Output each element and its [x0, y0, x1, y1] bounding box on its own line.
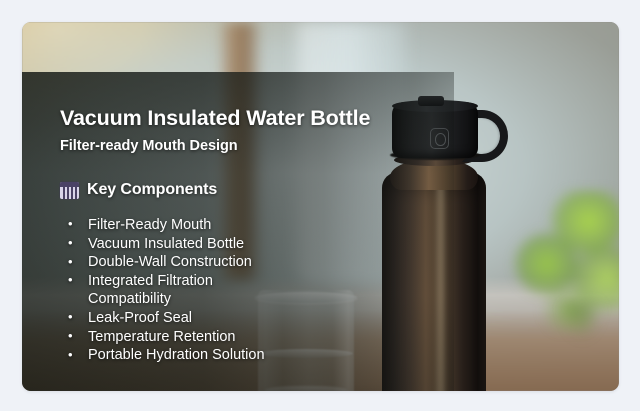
photo-plant-stem: [555, 304, 609, 384]
list-item: Temperature Retention: [60, 328, 296, 347]
page-title: Vacuum Insulated Water Bottle: [60, 106, 412, 131]
list-item: Leak-Proof Seal: [60, 309, 296, 328]
card-content: Vacuum Insulated Water Bottle Filter-rea…: [60, 106, 412, 365]
key-components-heading: Key Components: [60, 181, 412, 200]
list-item: Integrated Filtration Compatibility: [60, 272, 296, 309]
section-heading-label: Key Components: [87, 181, 217, 199]
list-item: Portable Hydration Solution: [60, 346, 296, 365]
key-components-list: Filter-Ready Mouth Vacuum Insulated Bott…: [60, 216, 296, 365]
list-item: Filter-Ready Mouth: [60, 216, 296, 235]
page-subtitle: Filter-ready Mouth Design: [60, 138, 412, 154]
list-item: Vacuum Insulated Bottle: [60, 235, 296, 254]
piano-keyboard-icon: [60, 181, 79, 200]
list-item: Double-Wall Construction: [60, 253, 296, 272]
product-hero-card: Vacuum Insulated Water Bottle Filter-rea…: [22, 22, 619, 391]
